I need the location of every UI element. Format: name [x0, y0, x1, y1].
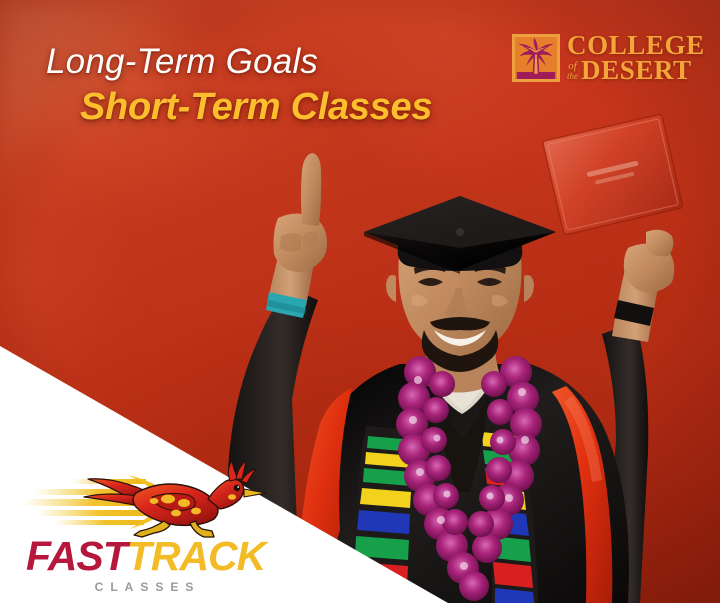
headline-block: Long-Term Goals Short-Term Classes: [46, 44, 432, 126]
connector-the: the: [567, 72, 578, 81]
fast-word: FAST: [26, 533, 127, 579]
track-word: TRACK: [127, 533, 265, 579]
promotional-banner: Long-Term Goals Short-Term Classes: [0, 0, 720, 603]
headline-line-2: Short-Term Classes: [80, 88, 432, 126]
headline-line-1: Long-Term Goals: [46, 44, 432, 79]
fast-track-wordmark: FASTTRACK: [26, 533, 262, 580]
classes-word: CLASSES: [26, 580, 262, 594]
roadrunner-icon: [18, 455, 268, 541]
college-logo-line-2: DESERT: [581, 58, 692, 83]
fast-track-classes-logo[interactable]: FASTTRACK CLASSES: [18, 455, 268, 590]
college-logo-wordmark: COLLEGE of the DESERT: [567, 33, 705, 83]
college-logo-connector: of the: [567, 61, 578, 84]
college-of-the-desert-logo[interactable]: COLLEGE of the DESERT: [512, 33, 705, 83]
palm-tree-icon: [512, 34, 560, 82]
